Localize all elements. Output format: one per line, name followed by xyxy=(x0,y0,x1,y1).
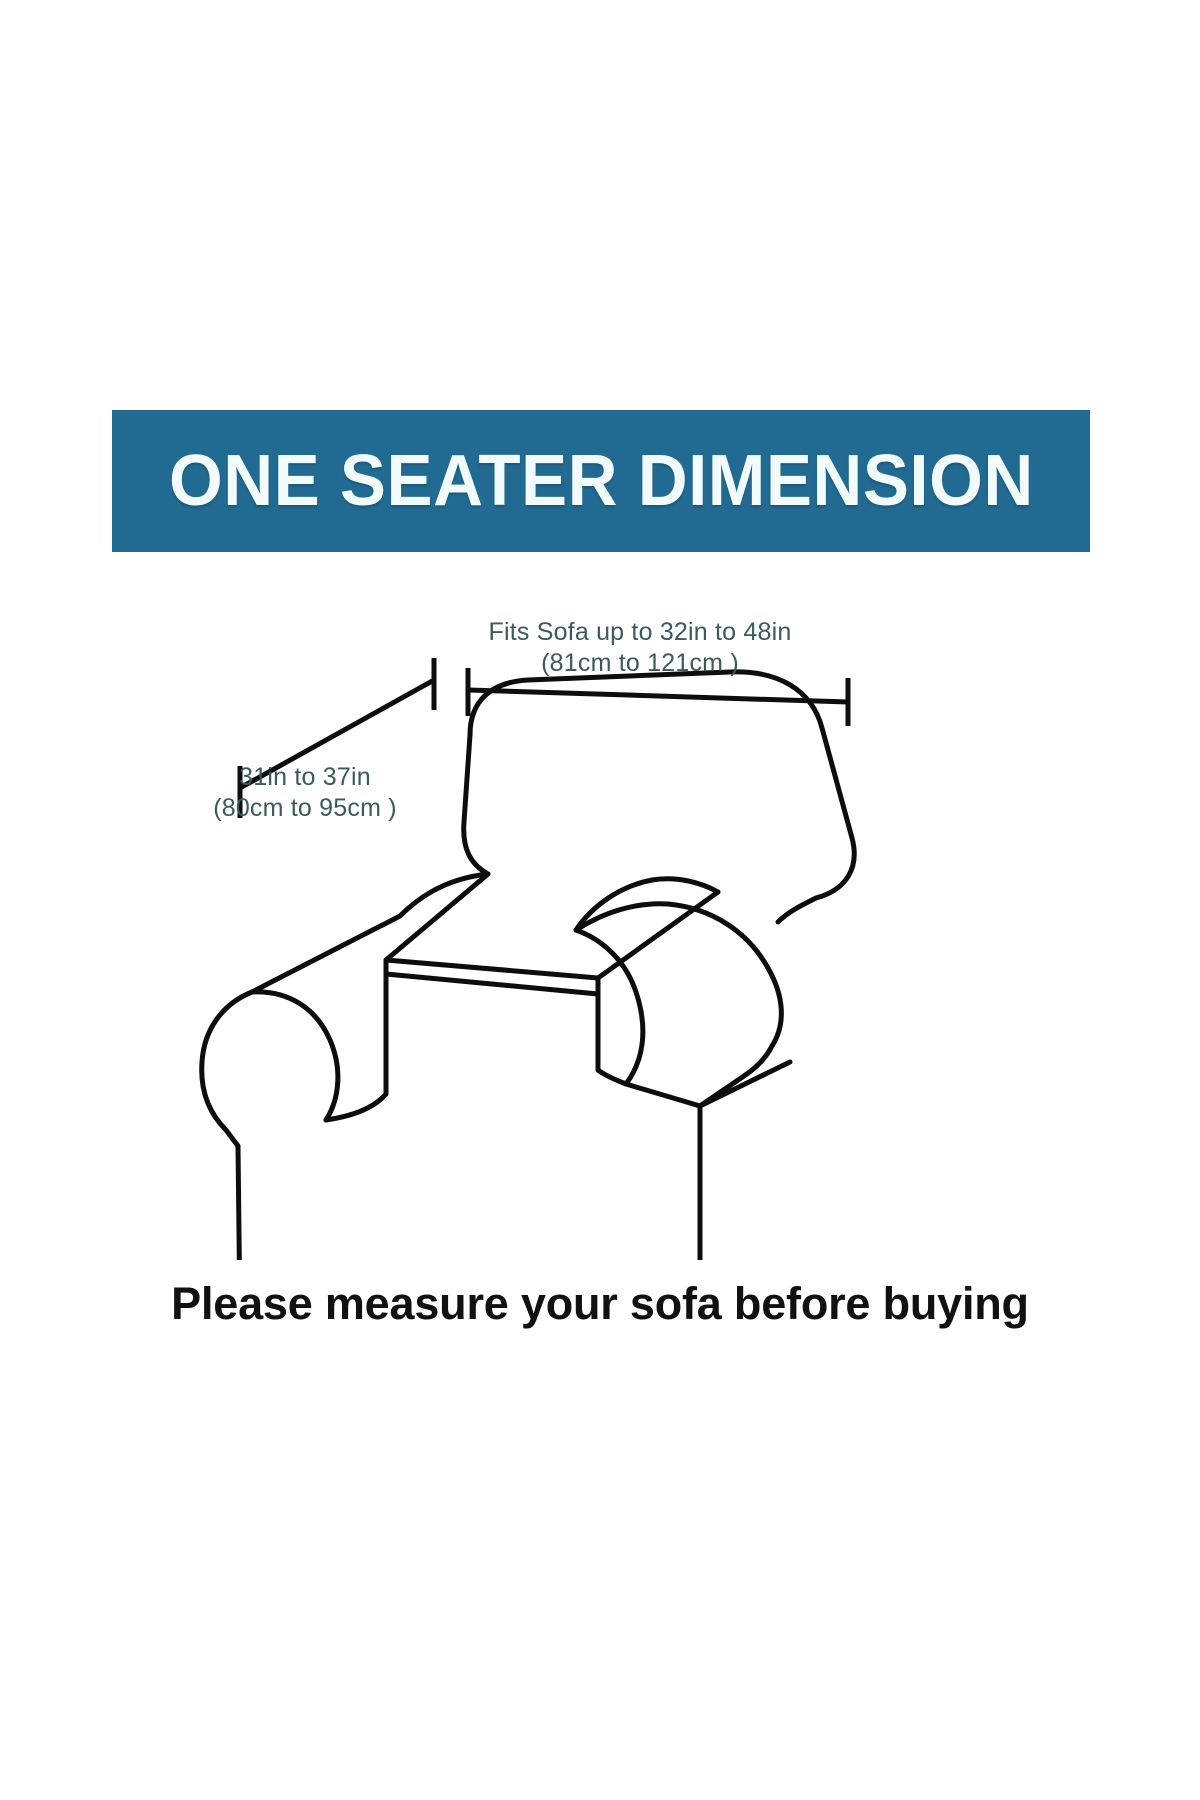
sofa-back-right-edge xyxy=(778,898,816,922)
width-dimension-label: Fits Sofa up to 32in to 48in (81cm to 12… xyxy=(470,617,810,678)
title-banner: ONE SEATER DIMENSION xyxy=(112,410,1090,552)
sofa-outline-group xyxy=(202,672,855,1260)
width-dimension-line xyxy=(468,690,848,702)
depth-dimension-cm: (80cm to 95cm ) xyxy=(160,793,450,824)
page-title: ONE SEATER DIMENSION xyxy=(169,445,1034,517)
sofa-body-right-face xyxy=(700,1062,790,1106)
depth-dimension-label: 31in to 37in (80cm to 95cm ) xyxy=(160,762,450,823)
sofa-body-left-edge xyxy=(238,1146,240,1260)
page-root: ONE SEATER DIMENSION xyxy=(0,0,1200,1800)
sofa-right-arm-inner xyxy=(598,994,626,1084)
sofa-left-arm-outer xyxy=(252,874,488,992)
sofa-right-arm-outer xyxy=(576,904,781,1046)
width-dimension-inches: Fits Sofa up to 32in to 48in xyxy=(488,618,791,646)
depth-dimension-inches: 31in to 37in xyxy=(239,763,371,791)
sofa-backrest-left-edge xyxy=(464,735,488,874)
sofa-backrest xyxy=(470,672,854,898)
width-dimension-cm: (81cm to 121cm ) xyxy=(470,648,810,679)
measure-note: Please measure your sofa before buying xyxy=(0,1278,1200,1330)
sofa-left-arm-side xyxy=(202,992,252,1146)
sofa-right-arm-detail xyxy=(626,1084,700,1106)
sofa-left-arm-roll xyxy=(252,992,338,1120)
